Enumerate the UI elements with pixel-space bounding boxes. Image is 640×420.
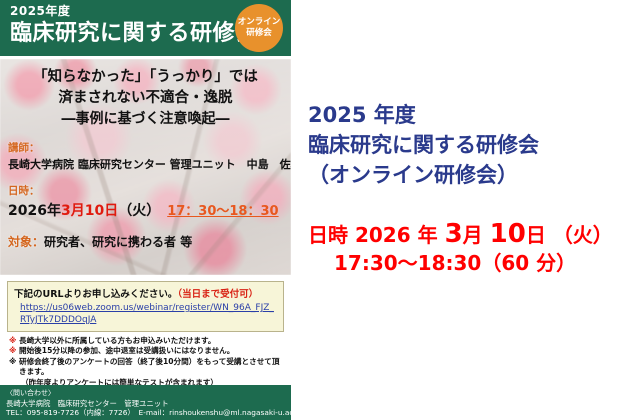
note-item: ※ 長崎大学以外に所属している方もお申込みいただけます。 xyxy=(7,336,284,346)
note-text: 長崎大学以外に所属している方もお申込みいただけます。 xyxy=(19,336,284,346)
poster-flyer: 2025年度 臨床研究に関する研修会 オンライン 研修会 「知らなかった」「うっ… xyxy=(0,0,291,420)
note-text: 開始後15分以降の参加、途中退室は受講扱いにはなりません。 xyxy=(19,346,284,356)
note-item: ※ 研修会終了後のアンケートの回答（終了後10分間）をもって受講とさせて頂きます… xyxy=(7,357,284,378)
right-time-line: 17:30〜18:30（60 分） xyxy=(308,249,640,277)
photo-overlay-content: 「知らなかった」「うっかり」では 済まされない不適合・逸脱 ―事例に基づく注意喚… xyxy=(0,59,291,250)
datetime-time: 17：30〜18：30 xyxy=(167,204,278,219)
poster-title-line-2: 済まされない不適合・逸脱 xyxy=(8,88,283,109)
poster-title-line-1: 「知らなかった」「うっかり」では xyxy=(8,67,283,88)
target-audience: 対象：研究者、研究に携わる者 等 xyxy=(8,233,283,250)
right-date-day-unit: 日 （火） xyxy=(526,223,613,247)
datetime-label: 日時： xyxy=(8,183,283,198)
right-datetime-block: 日時 2026 年 3月 10日 （火） 17:30〜18:30（60 分） xyxy=(308,220,640,277)
right-date-month-unit: 月 xyxy=(463,223,490,247)
right-date-day: 10 xyxy=(490,219,526,249)
blossom-photo-section: 「知らなかった」「うっかり」では 済まされない不適合・逸脱 ―事例に基づく注意喚… xyxy=(0,59,291,275)
datetime-month-day: 3月10日 xyxy=(61,203,118,219)
right-date-line: 日時 2026 年 3月 10日 （火） xyxy=(308,220,640,249)
note-asterisk: ※ xyxy=(7,336,19,346)
poster-title-line-3: ―事例に基づく注意喚起― xyxy=(8,109,283,130)
datetime-value: 2026年3月10日（火）17：30〜18：30 xyxy=(8,200,283,220)
right-title-line-1: 2025 年度 xyxy=(308,100,640,130)
online-seminar-badge: オンライン 研修会 xyxy=(235,4,283,52)
contact-heading: 〈問い合わせ〉 xyxy=(6,389,291,399)
contact-tel-email: TEL：095-819-7726（内線：7726） E-mail：rinshou… xyxy=(6,408,291,418)
registration-heading-note: （当日まで受付可） xyxy=(177,289,258,300)
right-date-prefix: 日時 2026 年 xyxy=(308,223,445,247)
target-value: 研究者、研究に携わる者 等 xyxy=(44,235,192,249)
registration-heading: 下記のURLよりお申し込みください。（当日まで受付可） xyxy=(14,286,277,300)
right-info-panel: 2025 年度 臨床研究に関する研修会 （オンライン研修会） 日時 2026 年… xyxy=(300,0,640,420)
registration-heading-main: 下記のURLよりお申し込みください。 xyxy=(14,289,177,300)
contact-organization: 長崎大学病院 臨床研究センター 管理ユニット xyxy=(6,399,291,409)
note-item: ※ 開始後15分以降の参加、途中退室は受講扱いにはなりません。 xyxy=(7,346,284,356)
badge-line-2: 研修会 xyxy=(246,28,272,39)
lecturer-value: 長崎大学病院 臨床研究センター 管理ユニット 中島 佐和子 xyxy=(8,156,283,172)
poster-header: 2025年度 臨床研究に関する研修会 オンライン 研修会 xyxy=(0,0,291,56)
target-label: 対象： xyxy=(8,235,44,249)
datetime-weekday: （火） xyxy=(118,203,160,219)
note-asterisk: ※ xyxy=(7,346,19,356)
lecturer-label: 講師： xyxy=(8,140,283,155)
registration-url-link[interactable]: https://us06web.zoom.us/webinar/register… xyxy=(14,302,277,326)
right-title-line-3: （オンライン研修会） xyxy=(308,160,640,190)
datetime-year: 2026年 xyxy=(8,203,61,219)
right-title-line-2: 臨床研究に関する研修会 xyxy=(308,130,640,160)
note-text: 研修会終了後のアンケートの回答（終了後10分間）をもって受講とさせて頂きます。 xyxy=(19,357,284,378)
poster-footer-contact: 〈問い合わせ〉 長崎大学病院 臨床研究センター 管理ユニット TEL：095-8… xyxy=(0,385,291,420)
right-date-month: 3 xyxy=(445,219,463,249)
badge-line-1: オンライン xyxy=(238,17,281,28)
screenshot-root: 2025年度 臨床研究に関する研修会 オンライン 研修会 「知らなかった」「うっ… xyxy=(0,0,640,420)
note-asterisk: ※ xyxy=(7,357,19,378)
registration-box: 下記のURLよりお申し込みください。（当日まで受付可） https://us06… xyxy=(7,281,284,332)
notes-section: 下記のURLよりお申し込みください。（当日まで受付可） https://us06… xyxy=(0,275,291,388)
